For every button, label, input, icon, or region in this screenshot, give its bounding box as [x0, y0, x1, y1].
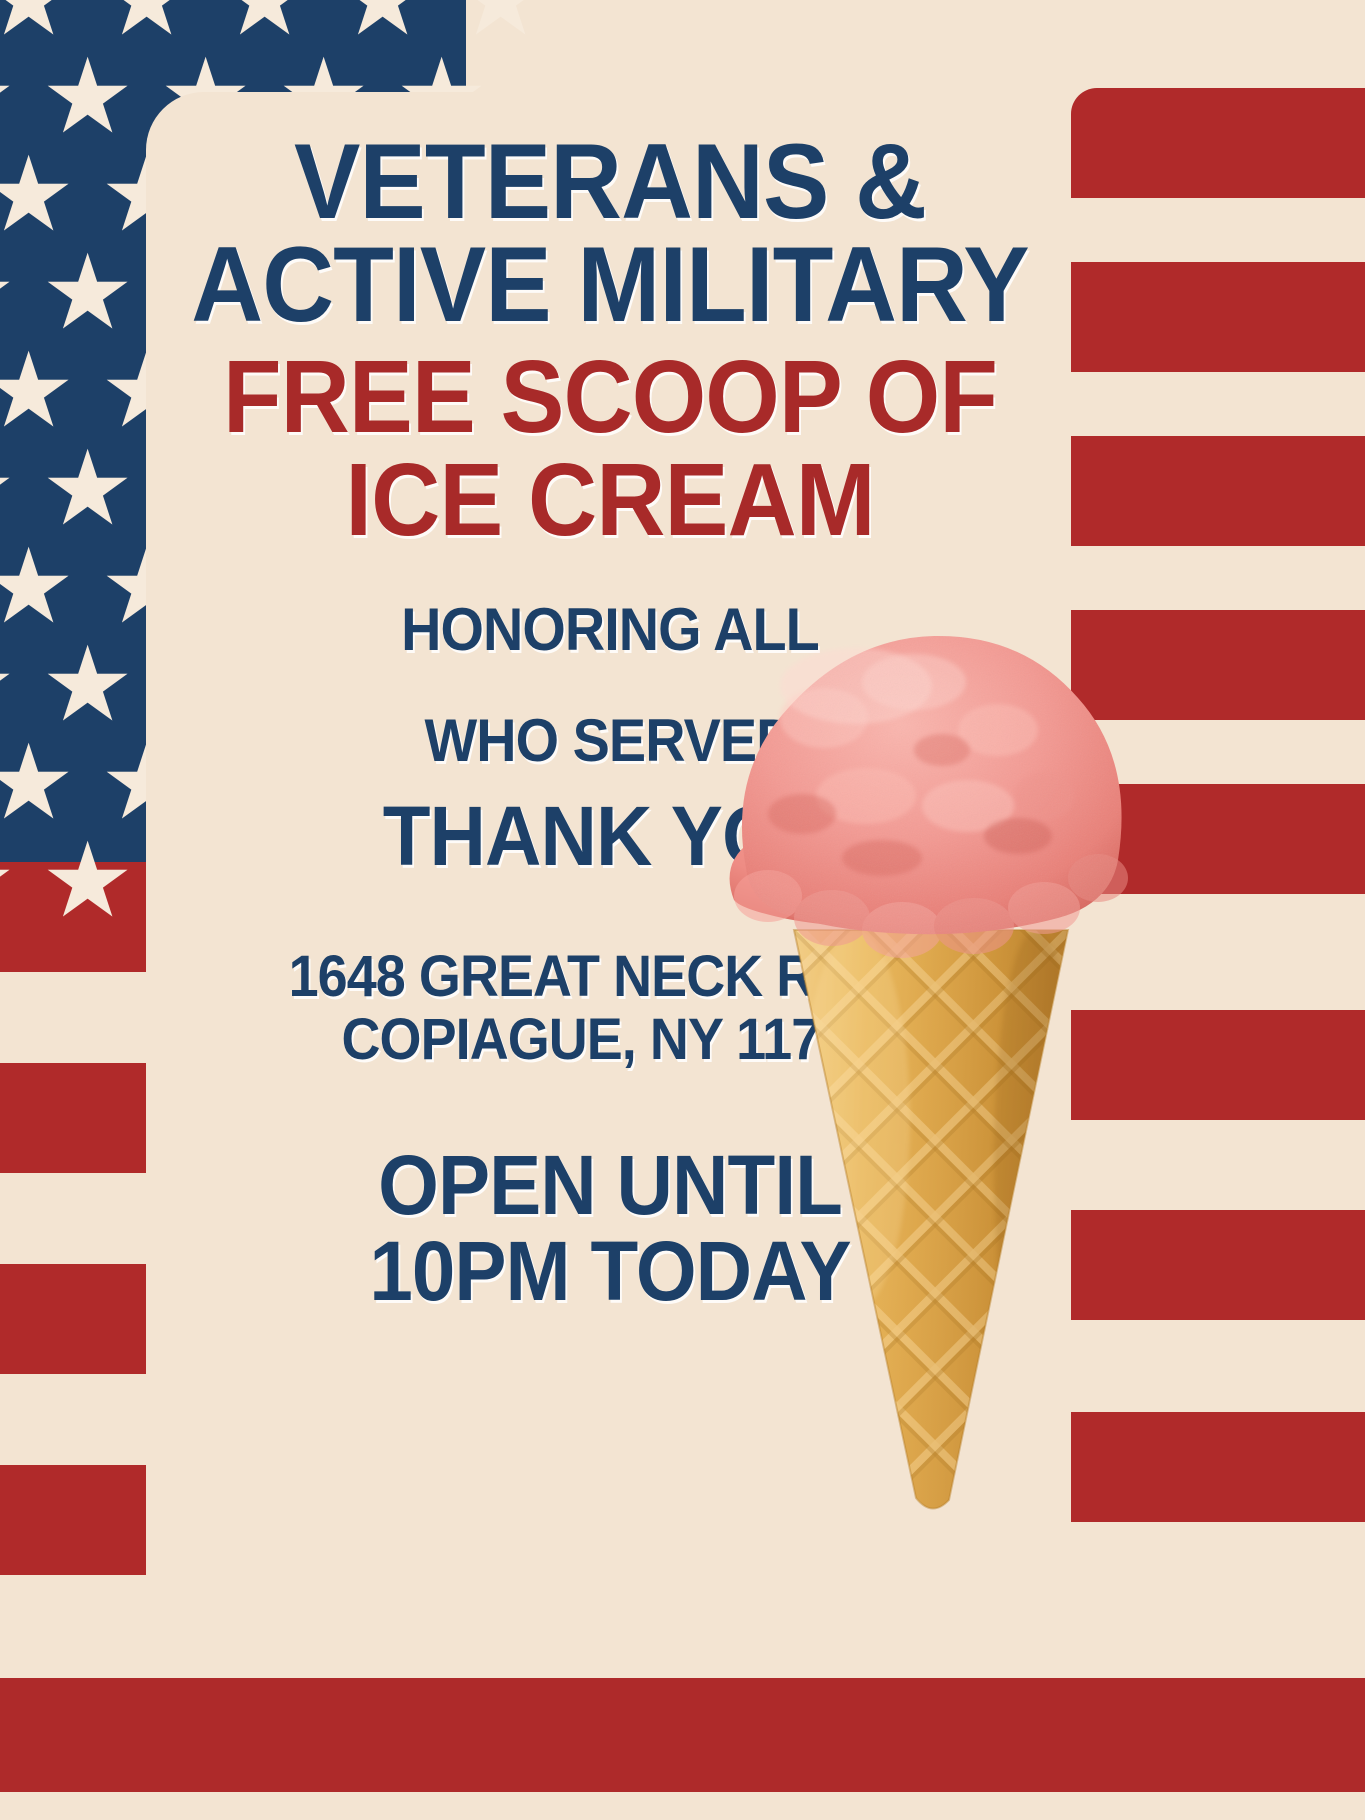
flag-stripe-right [1071, 436, 1365, 546]
waffle-cone [766, 920, 1096, 1520]
flag-stripe-right [1071, 88, 1365, 198]
ice-cream-scoop [730, 636, 1128, 958]
offer-line-2: ICE CREAM [182, 448, 1038, 551]
flag-bottom-band [0, 1678, 1365, 1792]
flag-stripe-left [0, 1063, 146, 1173]
flag-star-icon: ★ [0, 828, 16, 932]
flag-star-icon: ★ [41, 828, 134, 932]
flag-stripe-left [0, 1465, 146, 1575]
headline-line-1: VETERANS & [182, 130, 1038, 233]
flag-stripe-right [1071, 262, 1365, 372]
headline-line-2: ACTIVE MILITARY [182, 233, 1038, 336]
offer-line-1: FREE SCOOP OF [182, 345, 1038, 448]
strawberry-ice-cream-cone-image [706, 600, 1158, 1530]
flag-stripe-left [0, 1264, 146, 1374]
